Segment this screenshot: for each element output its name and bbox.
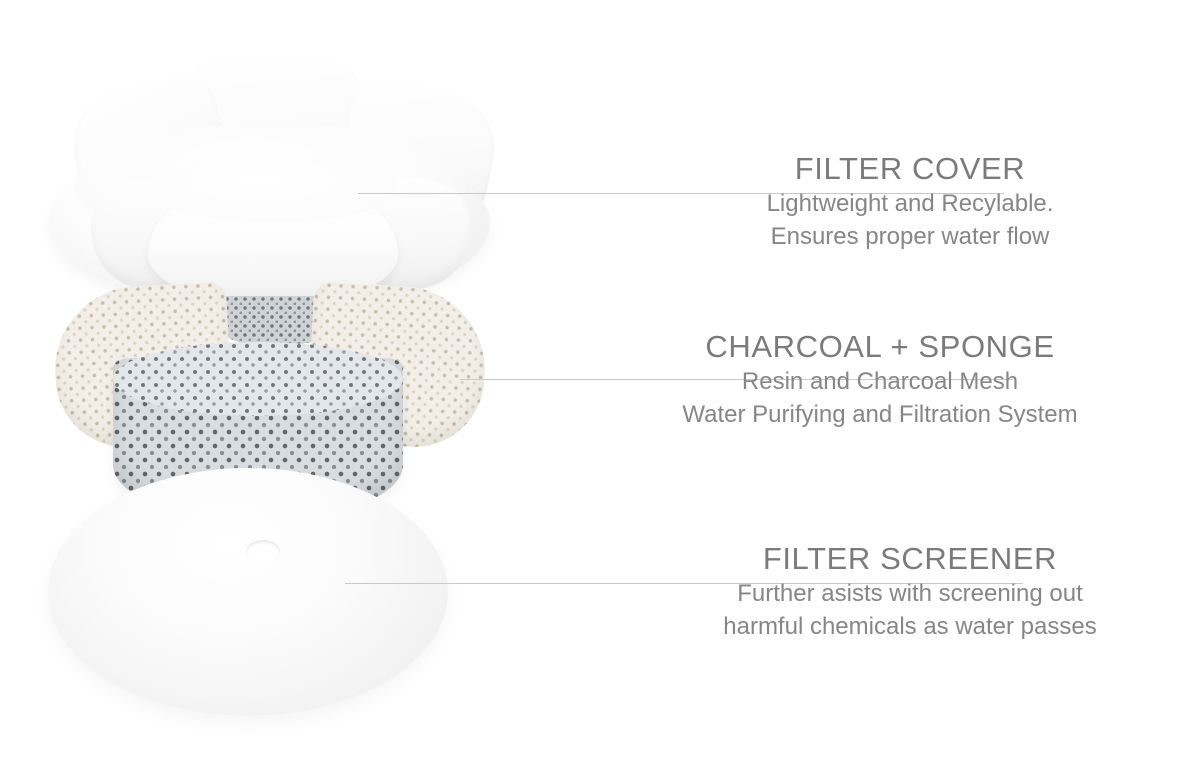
cover-center-dome-top [148, 156, 398, 222]
callout-title-charcoal-sponge: CHARCOAL + SPONGE [640, 330, 1120, 365]
filter-cover-part [40, 28, 500, 298]
callout-filter-cover: FILTER COVER Lightweight and Recylable. … [700, 152, 1120, 253]
screener-hole [246, 540, 280, 562]
product-illustration [0, 0, 560, 783]
callout-desc-line2: Water Purifying and Filtration System [640, 398, 1120, 431]
filter-screener-part [48, 468, 448, 716]
infographic-canvas: FILTER COVER Lightweight and Recylable. … [0, 0, 1200, 783]
callout-desc-line1: Resin and Charcoal Mesh [640, 365, 1120, 398]
callout-desc-filter-cover: Lightweight and Recylable. Ensures prope… [700, 187, 1120, 253]
charcoal-mesh-top [113, 342, 403, 416]
callout-desc-line2: Ensures proper water flow [700, 220, 1120, 253]
callout-title-filter-cover: FILTER COVER [700, 152, 1120, 187]
callout-title-filter-screener: FILTER SCREENER [670, 542, 1150, 577]
callout-desc-line1: Further asists with screening out [670, 577, 1150, 610]
callout-desc-filter-screener: Further asists with screening out harmfu… [670, 577, 1150, 643]
callout-filter-screener: FILTER SCREENER Further asists with scre… [670, 542, 1150, 643]
callout-charcoal-sponge: CHARCOAL + SPONGE Resin and Charcoal Mes… [640, 330, 1120, 431]
callout-desc-line2: harmful chemicals as water passes [670, 610, 1150, 643]
callout-desc-line1: Lightweight and Recylable. [700, 187, 1120, 220]
callout-desc-charcoal-sponge: Resin and Charcoal Mesh Water Purifying … [640, 365, 1120, 431]
